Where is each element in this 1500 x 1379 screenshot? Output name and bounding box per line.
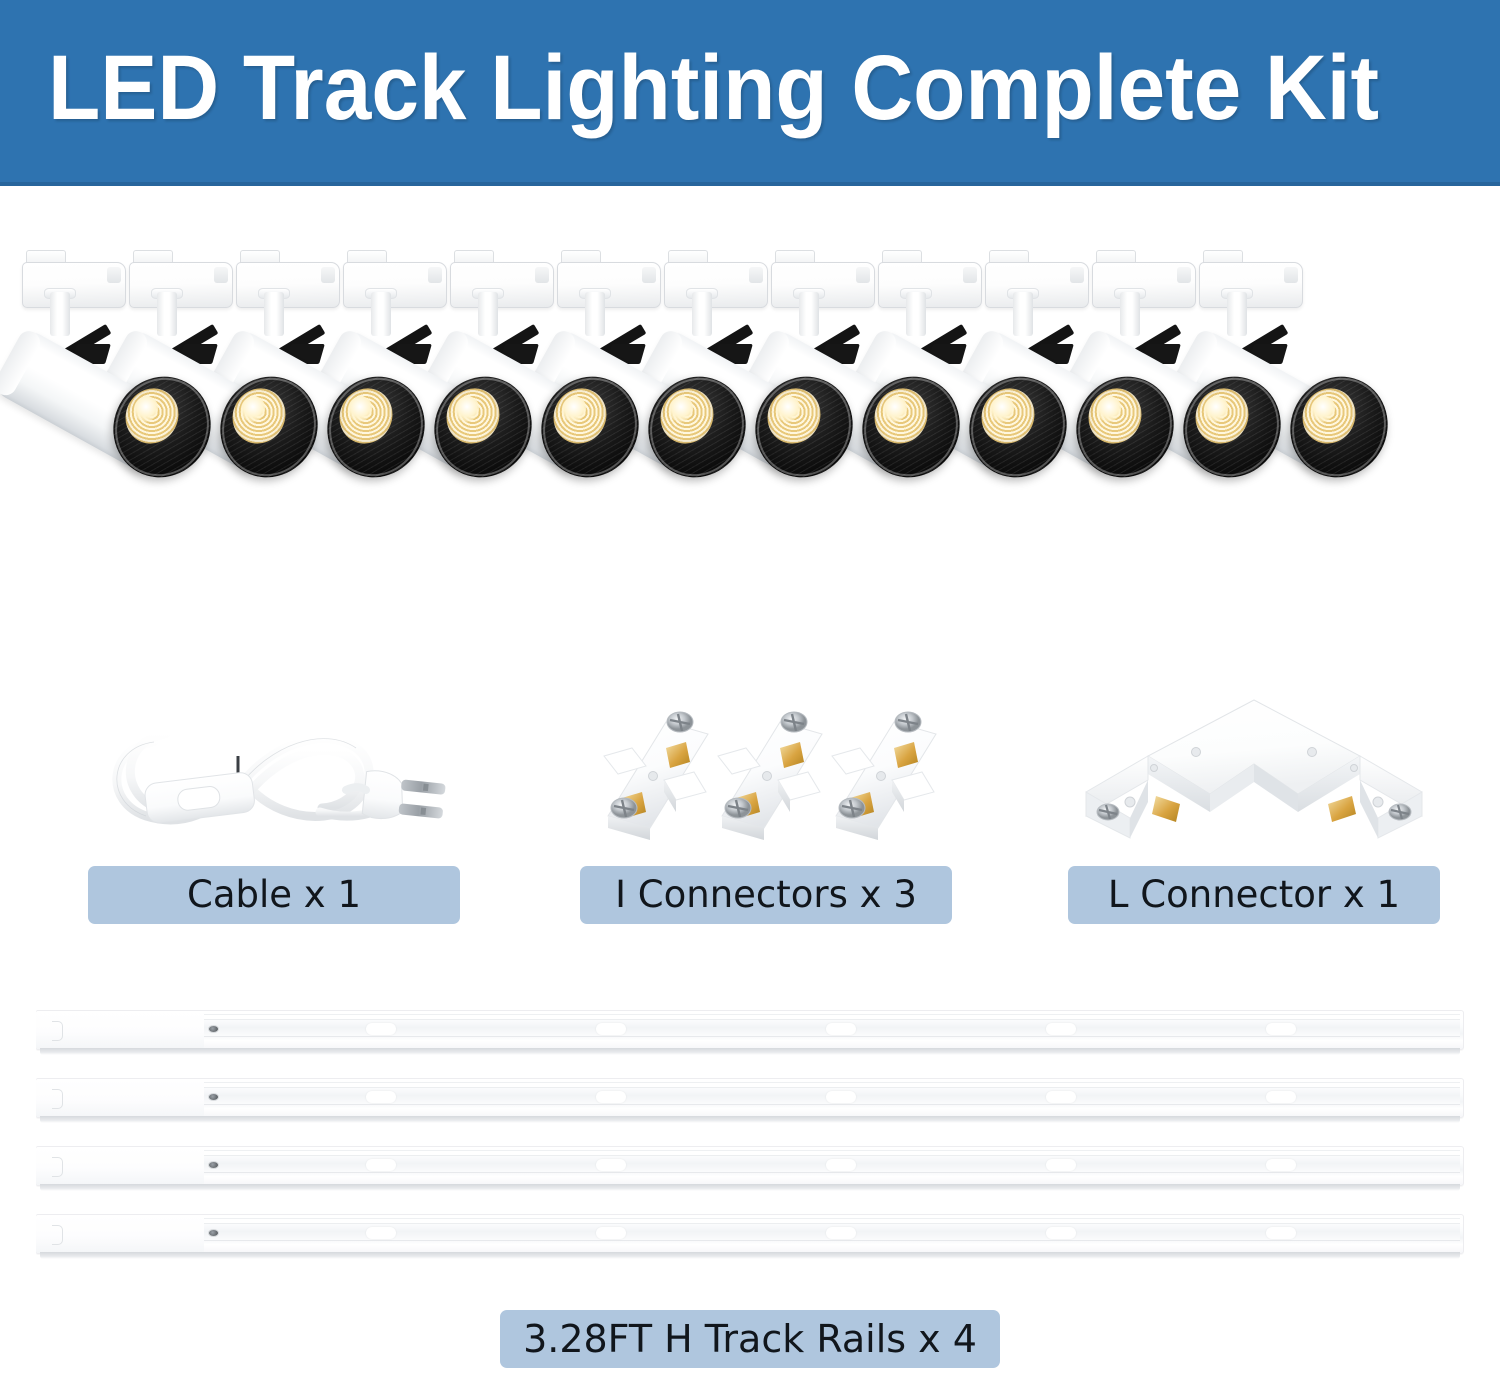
- cable-label: Cable x 1: [88, 866, 460, 924]
- rail-underside: [40, 1048, 1460, 1055]
- h-track-rail: [36, 1078, 1464, 1124]
- h-track-rail: [36, 1214, 1464, 1260]
- l-connector-artwork: [1068, 690, 1440, 856]
- rail-mounting-slot: [1046, 1227, 1076, 1239]
- lens-assembly: [1077, 376, 1185, 486]
- h-track-rail: [36, 1010, 1464, 1056]
- rail-mounting-slot: [366, 1159, 396, 1171]
- rail-mounting-slot: [596, 1023, 626, 1035]
- rail-mounting-slot: [596, 1091, 626, 1103]
- rail-mounting-slot: [366, 1091, 396, 1103]
- rail-end-cap: [36, 1147, 204, 1185]
- rail-top-edge: [204, 1014, 1460, 1015]
- rail-end-cap: [36, 1011, 204, 1049]
- rail-mounting-slot: [1266, 1227, 1296, 1239]
- rail-screw: [208, 1161, 219, 1169]
- lens-assembly: [328, 376, 436, 486]
- lens-assembly: [221, 376, 329, 486]
- lens-assembly: [970, 376, 1078, 486]
- lens-assembly: [863, 376, 971, 486]
- rail-mounting-slot: [366, 1227, 396, 1239]
- rail-mounting-slot: [1266, 1159, 1296, 1171]
- rail-end-cap: [36, 1079, 204, 1117]
- led-track-spotlight: [14, 236, 234, 511]
- rail-top-edge: [204, 1082, 1460, 1083]
- lens-assembly: [1291, 376, 1399, 486]
- header-banner: LED Track Lighting Complete Kit: [0, 0, 1500, 186]
- lens-assembly: [649, 376, 757, 486]
- track-adapter-head: [22, 250, 126, 308]
- lens-assembly: [435, 376, 543, 486]
- rail-mounting-slot: [1046, 1159, 1076, 1171]
- rail-mounting-slot: [826, 1023, 856, 1035]
- rail-mounting-slot: [596, 1227, 626, 1239]
- spotlight-row: [0, 236, 1500, 511]
- rail-screw: [208, 1229, 219, 1237]
- lens-assembly: [114, 376, 222, 486]
- rail-top-edge: [204, 1218, 1460, 1219]
- i-connectors-artwork: [580, 690, 952, 856]
- rail-underside: [40, 1116, 1460, 1123]
- rail-underside: [40, 1184, 1460, 1191]
- accessory-i-connectors: I Connectors x 3: [580, 690, 952, 930]
- rail-mounting-slot: [1266, 1023, 1296, 1035]
- rail-mounting-slot: [366, 1023, 396, 1035]
- track-rails-label: 3.28FT H Track Rails x 4: [500, 1310, 1000, 1368]
- product-infographic: LED Track Lighting Complete Kit: [0, 0, 1500, 1379]
- rail-mounting-slot: [1046, 1091, 1076, 1103]
- lens-assembly: [756, 376, 864, 486]
- rail-mounting-slot: [596, 1159, 626, 1171]
- rail-screw: [208, 1093, 219, 1101]
- cable-artwork: [88, 690, 460, 856]
- rail-mounting-slot: [1266, 1091, 1296, 1103]
- adapter-housing: [22, 262, 126, 308]
- rail-end-cap: [36, 1215, 204, 1253]
- accessory-l-connector: L Connector x 1: [1068, 690, 1440, 930]
- page-title: LED Track Lighting Complete Kit: [48, 42, 1379, 134]
- rail-top-edge: [204, 1150, 1460, 1151]
- rail-mounting-slot: [826, 1159, 856, 1171]
- h-track-rail: [36, 1146, 1464, 1192]
- i-connectors-label: I Connectors x 3: [580, 866, 952, 924]
- rail-screw: [208, 1025, 219, 1033]
- rail-underside: [40, 1252, 1460, 1259]
- l-connector-label: L Connector x 1: [1068, 866, 1440, 924]
- power-cable-with-switch-icon: [88, 690, 460, 856]
- l-connector-icon: [1068, 690, 1440, 856]
- i-connector-icon: [580, 690, 952, 856]
- lens-assembly: [542, 376, 650, 486]
- lens-assembly: [1184, 376, 1292, 486]
- accessory-cable: Cable x 1: [88, 690, 460, 930]
- rail-mounting-slot: [1046, 1023, 1076, 1035]
- track-rail-group: [0, 1010, 1500, 1270]
- rail-mounting-slot: [826, 1227, 856, 1239]
- rail-mounting-slot: [826, 1091, 856, 1103]
